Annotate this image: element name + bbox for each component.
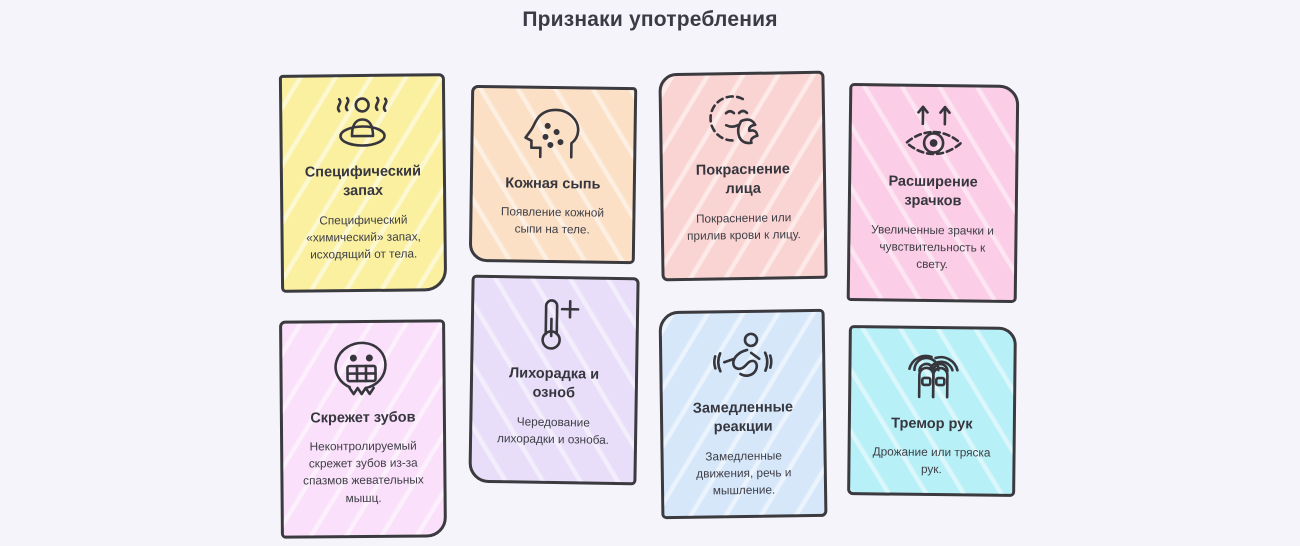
card-content: Расширение зрачковУвеличенные зрачки и ч… <box>863 96 1003 288</box>
symptom-card-specific-smell[interactable]: Специфический запахСпецифический «химиче… <box>279 73 447 293</box>
thermometer-icon <box>523 295 586 358</box>
card-description: Покраснение или прилив крови к лицу. <box>677 209 812 245</box>
card-content: Тремор рукДрожание или тряска рук. <box>863 338 1000 481</box>
card-content: Кожная сыпьПоявление кожной сыпи на теле… <box>485 98 621 249</box>
card-content: Лихорадка и ознобЧередование лихорадки и… <box>485 288 624 470</box>
flushed-face-icon <box>706 90 779 153</box>
card-content: Специфический запахСпецифический «химиче… <box>295 86 431 277</box>
symptom-card-dilated-pupils[interactable]: Расширение зрачковУвеличенные зрачки и ч… <box>847 83 1020 303</box>
card-title: Замедленные реакции <box>676 398 811 438</box>
symptom-card-fever-chills[interactable]: Лихорадка и ознобЧередование лихорадки и… <box>468 275 639 486</box>
card-description: Замедленные движения, речь и мышление. <box>676 447 811 500</box>
smell-person-icon <box>323 93 402 156</box>
card-description: Увеличенные зрачки и чувствительность к … <box>863 221 1002 274</box>
card-description: Чередование лихорадки и озноба. <box>485 412 622 448</box>
symptom-card-board: Специфический запахСпецифический «химиче… <box>0 0 1300 546</box>
card-description: Дрожание или тряска рук. <box>863 444 999 480</box>
symptom-card-hand-tremor[interactable]: Тремор рукДрожание или тряска рук. <box>847 325 1017 497</box>
face-rash-icon <box>518 105 589 168</box>
shaking-hands-icon <box>897 345 968 408</box>
dilated-eye-icon <box>894 103 973 166</box>
card-title: Скрежет зубов <box>308 409 417 429</box>
card-description: Появление кожной сыпи на теле. <box>485 203 619 239</box>
symptom-card-teeth-grinding[interactable]: Скрежет зубовНеконтролируемый скрежет зу… <box>279 319 447 538</box>
symptom-card-facial-redness[interactable]: Покраснение лицаПокраснение или прилив к… <box>658 71 827 282</box>
card-title: Лихорадка и озноб <box>486 364 623 405</box>
symptom-card-skin-rash[interactable]: Кожная сыпьПоявление кожной сыпи на теле… <box>469 85 637 264</box>
card-title: Покраснение лица <box>676 160 811 201</box>
card-description: Неконтролируемый скрежет зубов из-за спа… <box>296 438 431 508</box>
card-title: Тремор рук <box>889 415 975 435</box>
card-content: Замедленные реакцииЗамедленные движения,… <box>675 322 812 504</box>
card-title: Кожная сыпь <box>503 174 602 195</box>
card-content: Скрежет зубовНеконтролируемый скрежет зу… <box>295 332 431 523</box>
grinding-teeth-icon <box>327 339 398 402</box>
card-description: Специфический «химический» запах, исходя… <box>296 211 431 264</box>
card-title: Специфический запах <box>296 162 430 202</box>
card-content: Покраснение лицаПокраснение или прилив к… <box>675 84 812 266</box>
card-title: Расширение зрачков <box>864 172 1002 212</box>
symptom-card-slow-reactions[interactable]: Замедленные реакцииЗамедленные движения,… <box>659 309 828 519</box>
running-person-icon <box>707 329 778 392</box>
